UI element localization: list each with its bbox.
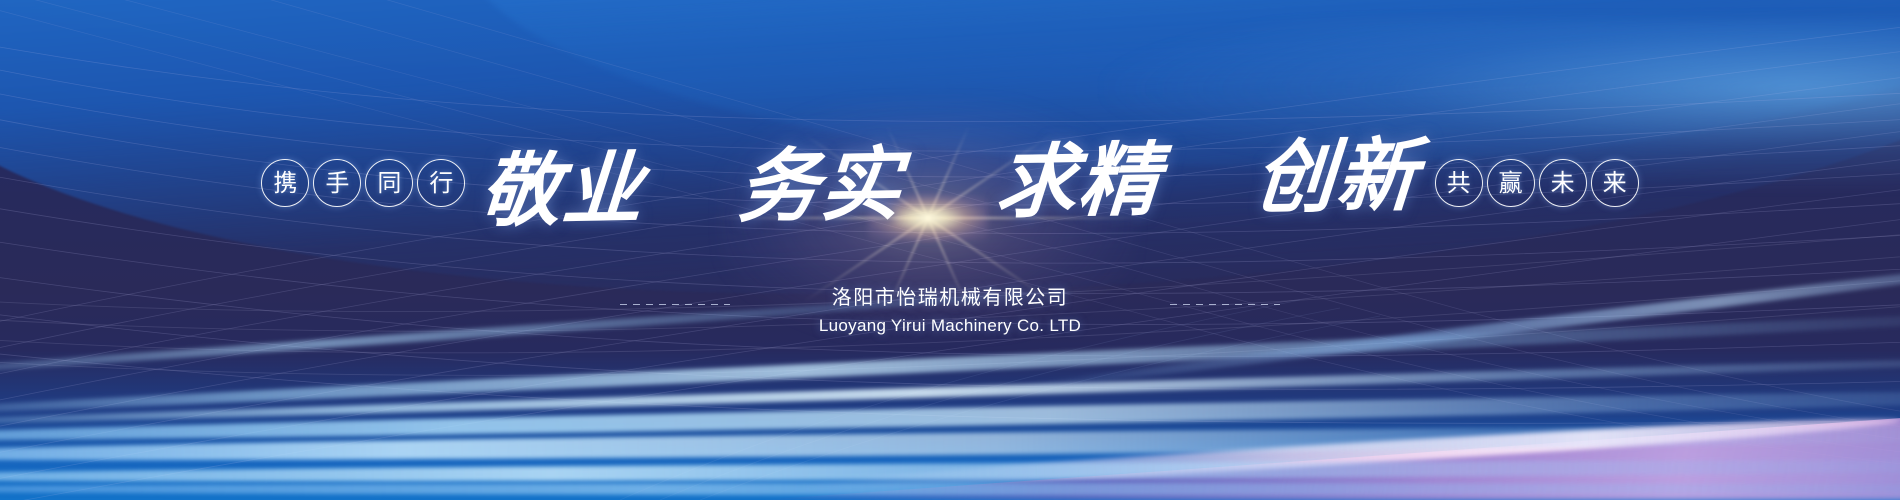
slogan-gap-3: [1189, 206, 1223, 207]
slogan-gap-1: [673, 215, 707, 216]
slogan-calligraphy: 敬业 务实 求精 创新: [478, 135, 1422, 231]
company-text-block: 洛阳市怡瑞机械有限公司 Luoyang Yirui Machinery Co. …: [730, 282, 1170, 339]
badge-gong: 共: [1435, 159, 1483, 207]
badge-ying: 赢: [1487, 159, 1535, 207]
badge-xie: 携: [261, 159, 309, 207]
slogan-row: 携 手 同 行 敬业 务实 求精 创新 共 赢 未 来: [0, 128, 1900, 238]
slogan-word-qiujing: 求精: [994, 139, 1164, 222]
badge-wei: 未: [1539, 159, 1587, 207]
left-badge-group: 携 手 同 行: [261, 159, 465, 207]
badge-xing: 行: [417, 159, 465, 207]
slogan-word-wushi: 务实: [736, 144, 906, 227]
badge-lai: 来: [1591, 159, 1639, 207]
company-name-en: Luoyang Yirui Machinery Co. LTD: [730, 312, 1170, 339]
slogan-gap-2: [931, 211, 965, 212]
banner-content: 携 手 同 行 敬业 务实 求精 创新 共 赢 未 来: [0, 0, 1900, 500]
badge-tong: 同: [365, 159, 413, 207]
slogan-word-chuangxin: 创新: [1252, 135, 1422, 218]
company-name-cn: 洛阳市怡瑞机械有限公司: [730, 282, 1170, 312]
badge-shou: 手: [313, 159, 361, 207]
dashed-rule-right: [1170, 304, 1280, 305]
company-culture-banner: 携 手 同 行 敬业 务实 求精 创新 共 赢 未 来: [0, 0, 1900, 500]
slogan-word-jingye: 敬业: [478, 148, 648, 231]
right-badge-group: 共 赢 未 来: [1435, 159, 1639, 207]
dashed-rule-left: [620, 304, 730, 305]
company-identity-row: 洛阳市怡瑞机械有限公司 Luoyang Yirui Machinery Co. …: [0, 282, 1900, 339]
